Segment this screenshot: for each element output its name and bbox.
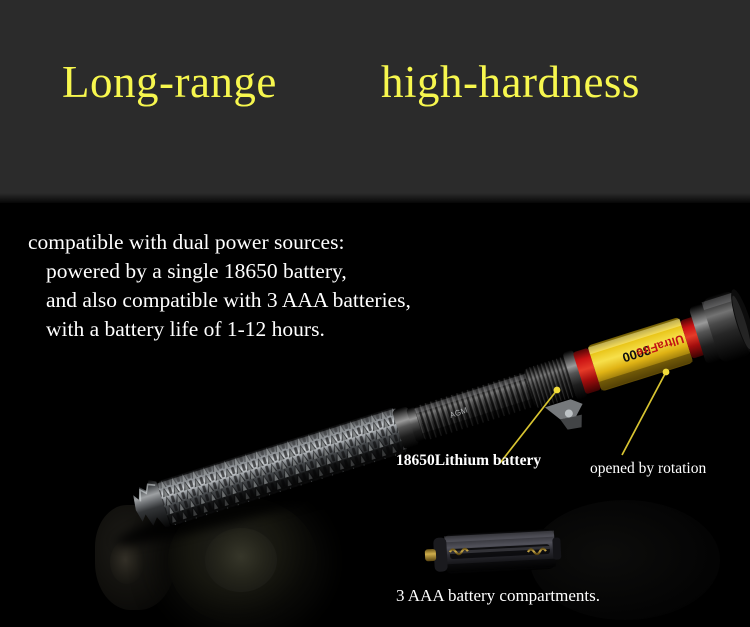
callout-aaa-label: 3 AAA battery compartments. [396, 586, 600, 606]
baton-threaded-barrel [522, 349, 588, 413]
svg-text:UltraFire: UltraFire [634, 332, 686, 360]
headline-high-hardness: high-hardness [381, 60, 640, 105]
spec-text-block: compatible with dual power sources: powe… [28, 228, 548, 344]
leader-dot-rotation [663, 369, 670, 376]
leader-dot-18650 [554, 387, 561, 394]
baton-ribbed-grip: AGM [414, 371, 537, 441]
background-flashlight-head [95, 505, 175, 610]
callout-leader-lines [500, 372, 666, 463]
header-band: Long-range high-hardness [0, 0, 750, 203]
background-flashlight-head-highlight [110, 540, 144, 584]
aaa-battery-holder [424, 528, 562, 575]
baton-mid-collar [392, 404, 426, 450]
callout-rotation-label: opened by rotation [590, 460, 706, 478]
spec-line-2: powered by a single 18650 battery, [28, 257, 548, 286]
baton-spiked-shaft [128, 403, 408, 535]
background-lens-inner [205, 528, 277, 592]
battery-springs [450, 545, 546, 559]
spec-line-1: compatible with dual power sources: [28, 228, 548, 257]
baton-accessory-clip [545, 396, 589, 436]
product-feature-panel: Long-range high-hardness compatible with… [0, 0, 750, 627]
svg-text:AGM: AGM [448, 405, 468, 420]
baton-tail-cap [687, 287, 750, 368]
spec-line-3: and also compatible with 3 AAA batteries… [28, 286, 548, 315]
battery-18650: 3000 UltraFire [572, 313, 707, 397]
headline-long-range: Long-range [62, 60, 277, 105]
battery-code-label: 3000 [621, 342, 653, 365]
leader-line-rotation [622, 372, 666, 455]
background-lens [168, 497, 318, 625]
spec-line-4: with a battery life of 1-12 hours. [28, 315, 548, 344]
callout-18650-label: 18650Lithium battery [396, 452, 541, 470]
